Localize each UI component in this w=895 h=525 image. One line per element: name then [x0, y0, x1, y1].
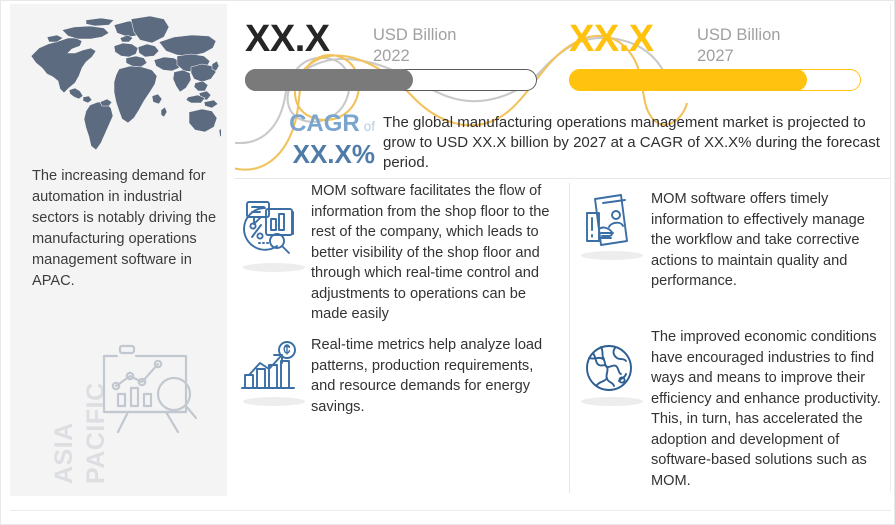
icon-shadow [243, 263, 305, 272]
header-divider [235, 178, 891, 179]
stat-2027-year: 2027 [697, 46, 780, 67]
documents-hand-alert-icon [581, 193, 643, 251]
stat-2022-unit: USD Billion [373, 26, 456, 44]
world-map-icon [16, 12, 221, 157]
header-stats: XX.X USD Billion 2022 XX.X USD Billion 2… [235, 1, 893, 177]
stat-2022-bar-track [245, 69, 537, 91]
insight-block-3-text: MOM software offers timely information t… [651, 189, 883, 292]
stat-2022-bar-fill [245, 69, 413, 91]
stat-2022-unit-block: USD Billion 2022 [373, 25, 456, 67]
insight-block-2: Real-time metrics help analyze load patt… [241, 335, 561, 417]
icon-shadow [581, 397, 643, 406]
stat-2022-value: XX.X [245, 19, 330, 59]
insight-block-1-text: MOM software facilitates the flow of inf… [311, 181, 557, 325]
infographic-root: The increasing demand for automation in … [0, 0, 895, 525]
insight-block-2-text: Real-time metrics help analyze load patt… [311, 335, 557, 417]
cagr-label: CAGR [289, 110, 360, 137]
bottom-divider [10, 510, 891, 511]
stat-2027-bar-track [569, 69, 861, 91]
insight-block-3: MOM software offers timely information t… [581, 189, 891, 292]
stat-2027-bar-fill [569, 69, 807, 91]
region-description: The increasing demand for automation in … [32, 166, 222, 292]
stat-2027-value: XX.X [569, 19, 654, 59]
bar-chart-growth-dollar-icon [241, 341, 307, 397]
insight-block-1: MOM software facilitates the flow of inf… [241, 181, 561, 325]
cagr-of: of [364, 119, 375, 134]
cagr-value: XX.X% [245, 140, 375, 168]
left-region-panel: The increasing demand for automation in … [10, 4, 227, 496]
insight-block-4-text: The improved economic conditions have en… [651, 327, 883, 491]
region-name-line1: ASIA [50, 422, 79, 484]
globe-icon [581, 341, 643, 397]
insight-block-4: The improved economic conditions have en… [581, 327, 891, 491]
cagr-block: CAGRof XX.X% [245, 111, 375, 168]
intro-paragraph: The global manufacturing operations mana… [383, 113, 883, 173]
column-divider [569, 183, 570, 493]
icon-shadow [243, 397, 305, 406]
stat-2027-unit-block: USD Billion 2027 [697, 25, 780, 67]
analytics-percent-search-icon [241, 199, 307, 263]
icon-shadow [581, 251, 643, 260]
stat-2027-unit: USD Billion [697, 26, 780, 44]
region-name-label: ASIA PACIFIC [22, 334, 94, 484]
presentation-chart-magnifier-icon [98, 336, 210, 440]
cagr-label-row: CAGRof [245, 111, 375, 140]
stat-2022-year: 2022 [373, 46, 456, 67]
